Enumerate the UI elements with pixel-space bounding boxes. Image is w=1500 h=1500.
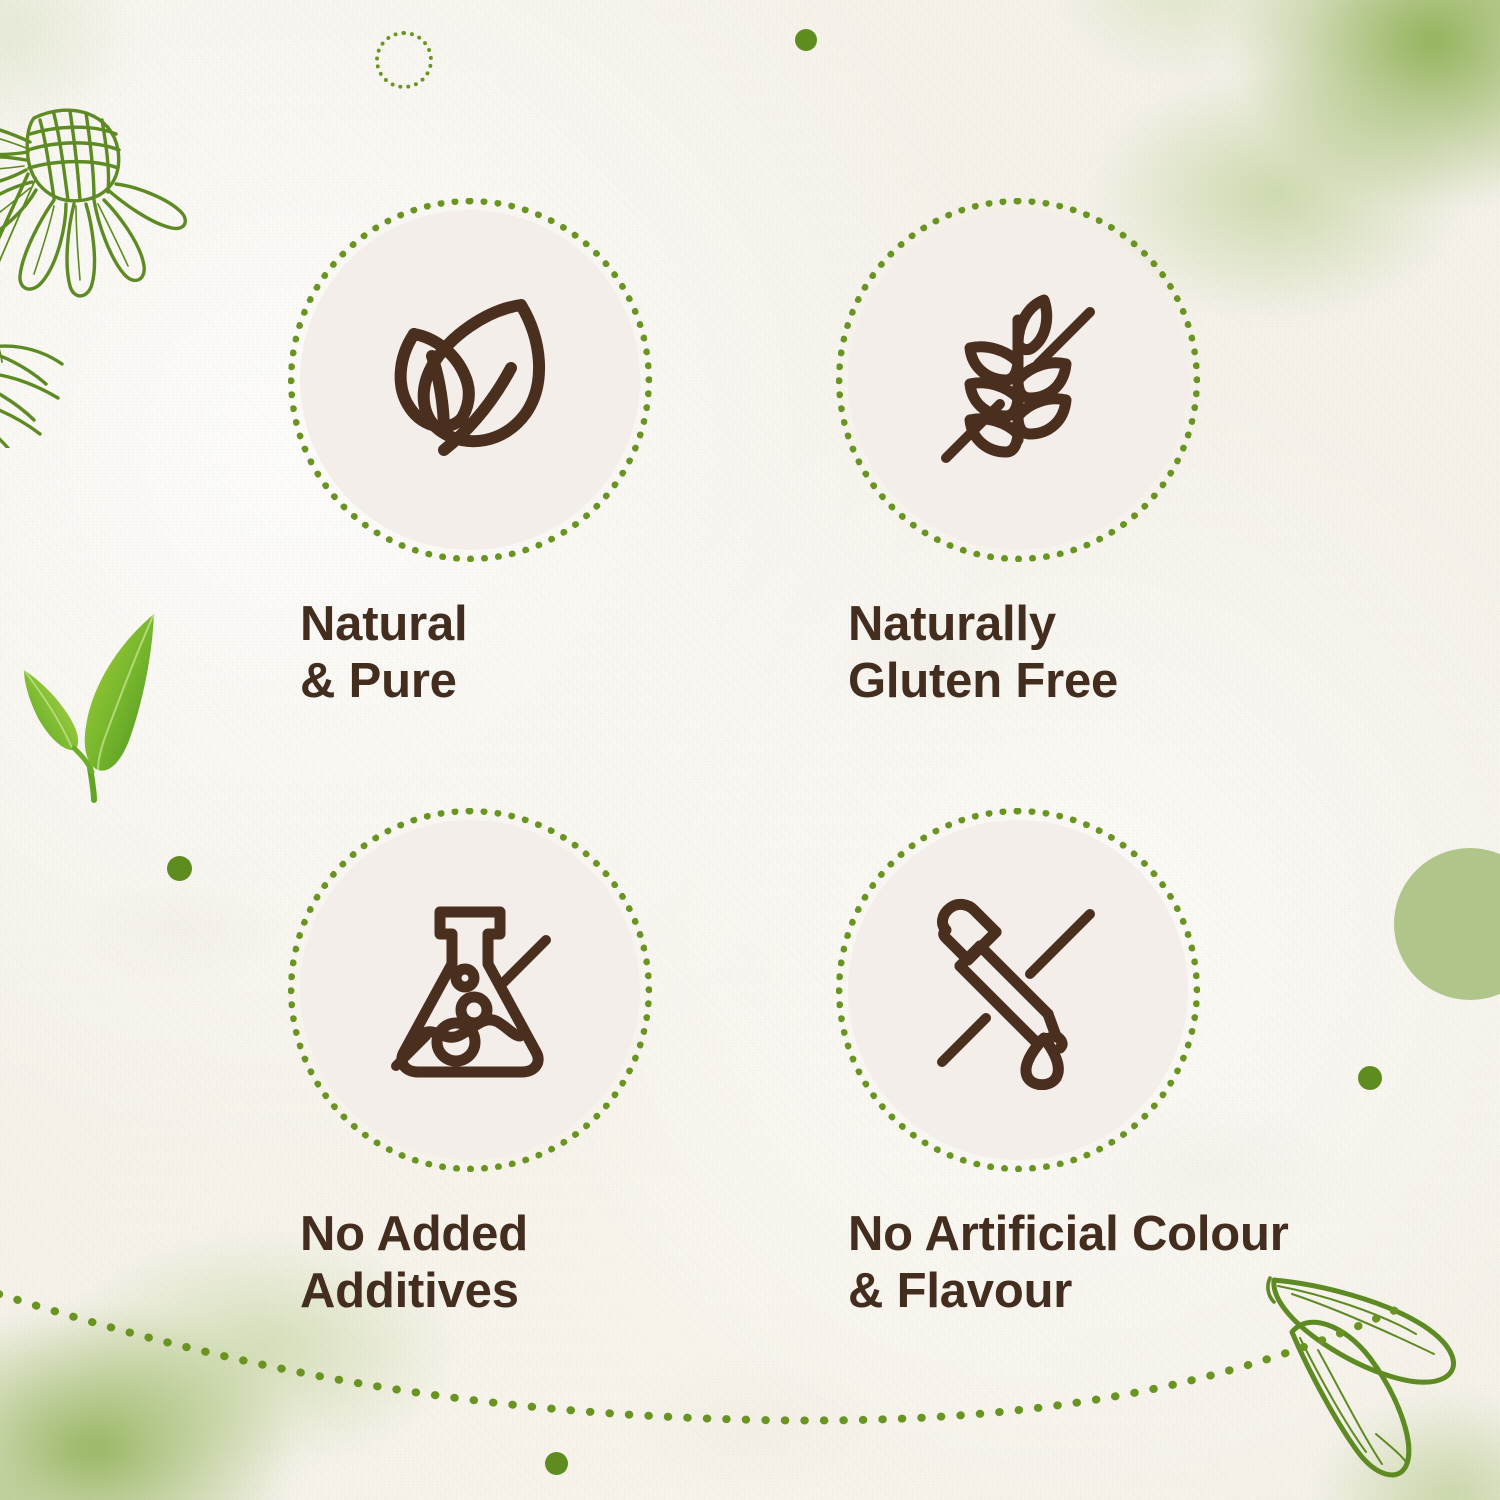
feature-label-no-added-additives: No Added Additives: [300, 1206, 640, 1320]
feature-no-added-additives[interactable]: No Added Additives: [300, 820, 640, 1320]
infographic-canvas: Natural & Pure: [0, 0, 1500, 1500]
feature-grid: Natural & Pure: [0, 0, 1500, 1500]
badge-natural-pure: [300, 210, 640, 550]
feature-label-natural-pure: Natural & Pure: [300, 596, 640, 710]
feature-no-artificial-colour-flavour[interactable]: No Artificial Colour & Flavour: [848, 820, 1289, 1320]
two-leaves-icon: [370, 280, 570, 480]
badge-no-artificial-colour-flavour: [848, 820, 1188, 1160]
feature-label-no-artificial-colour-flavour: No Artificial Colour & Flavour: [848, 1206, 1289, 1320]
flask-crossed-out-icon: [370, 890, 570, 1090]
feature-naturally-gluten-free[interactable]: Naturally Gluten Free: [848, 210, 1188, 710]
badge-naturally-gluten-free: [848, 210, 1188, 550]
wheat-crossed-out-icon: [918, 280, 1118, 480]
feature-label-naturally-gluten-free: Naturally Gluten Free: [848, 596, 1188, 710]
feature-natural-pure[interactable]: Natural & Pure: [300, 210, 640, 710]
badge-no-added-additives: [300, 820, 640, 1160]
dropper-crossed-out-icon: [918, 890, 1118, 1090]
